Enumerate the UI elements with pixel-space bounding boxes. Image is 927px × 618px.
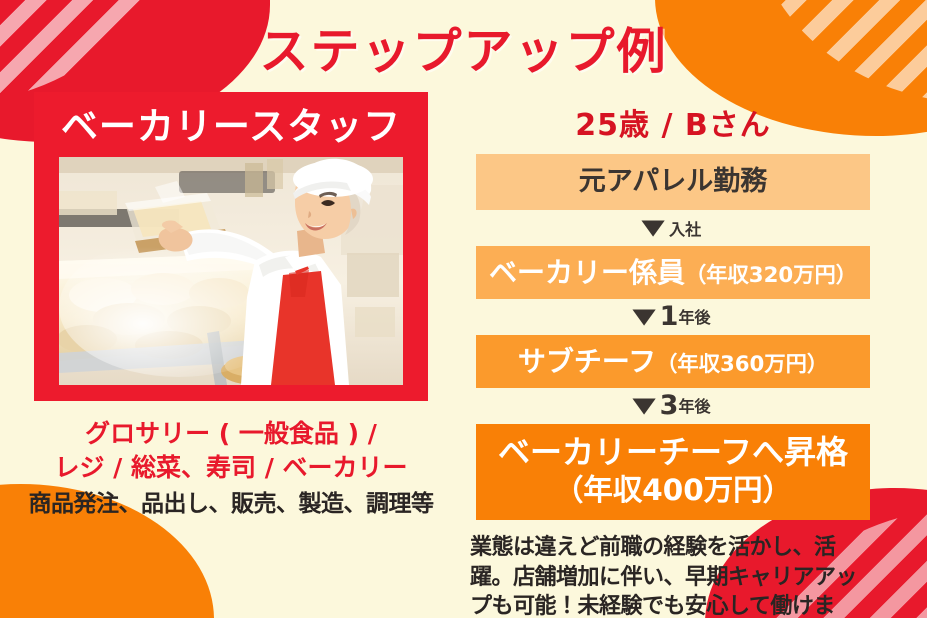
caption-line-3: 商品発注、品出し、販売、製造、調理等 xyxy=(14,490,448,520)
career-arrow-3: ▼ 3年後 xyxy=(470,388,876,424)
career-step-4-salary: （年収400万円） xyxy=(480,473,866,508)
bakery-staff-photo xyxy=(59,157,403,385)
career-arrow-2: ▼ 1年後 xyxy=(470,299,876,335)
career-step-1-label: 元アパレル勤務 xyxy=(579,166,767,197)
career-description: 業態は違えど前職の経験を活かし、活躍。店舗増加に伴い、早期キャリアアップも可能！… xyxy=(470,533,870,618)
job-caption: グロサリー ( 一般食品 ) / レジ / 総菜、寿司 / ベーカリー 商品発注… xyxy=(0,417,462,520)
career-arrow-1: ▼ 入社 xyxy=(470,210,876,246)
career-step-4-label: ベーカリーチーフへ昇格 xyxy=(498,433,848,471)
career-step-2: ベーカリー係員（年収320万円） xyxy=(476,246,870,299)
career-step-2-label: ベーカリー係員 xyxy=(489,256,685,289)
job-card: ベーカリースタッフ xyxy=(34,92,428,401)
career-step-3-label: サブチーフ xyxy=(518,345,656,378)
poster-root: ステップアップ例 ベーカリースタッフ xyxy=(0,0,927,618)
left-column: ベーカリースタッフ xyxy=(0,92,462,520)
chevron-down-icon: ▼ xyxy=(632,395,655,416)
career-arrow-3-years: 3 xyxy=(660,390,679,421)
career-step-1: 元アパレル勤務 xyxy=(476,154,870,210)
career-arrow-3-suffix: 年後 xyxy=(678,397,710,416)
career-step-3: サブチーフ（年収360万円） xyxy=(476,335,870,388)
career-step-2-salary: （年収320万円） xyxy=(685,263,857,288)
career-arrow-3-label: 3年後 xyxy=(660,390,711,421)
person-profile-label: 25歳 / Bさん xyxy=(470,100,876,144)
career-arrow-1-label: 入社 xyxy=(669,216,701,240)
caption-line-1: グロサリー ( 一般食品 ) / xyxy=(14,417,448,451)
career-step-3-salary: （年収360万円） xyxy=(656,352,828,377)
chevron-down-icon: ▼ xyxy=(641,217,664,238)
right-column: 25歳 / Bさん 元アパレル勤務 ▼ 入社 ベーカリー係員（年収320万円） … xyxy=(470,100,876,618)
career-arrow-2-label: 1年後 xyxy=(660,301,711,332)
career-arrow-2-years: 1 xyxy=(660,301,679,332)
chevron-down-icon: ▼ xyxy=(632,306,655,327)
page-title: ステップアップ例 xyxy=(0,12,927,83)
career-step-4: ベーカリーチーフへ昇格 （年収400万円） xyxy=(476,424,870,520)
caption-line-2: レジ / 総菜、寿司 / ベーカリー xyxy=(14,451,448,485)
career-arrow-2-suffix: 年後 xyxy=(678,308,710,327)
job-card-title: ベーカリースタッフ xyxy=(34,102,428,157)
